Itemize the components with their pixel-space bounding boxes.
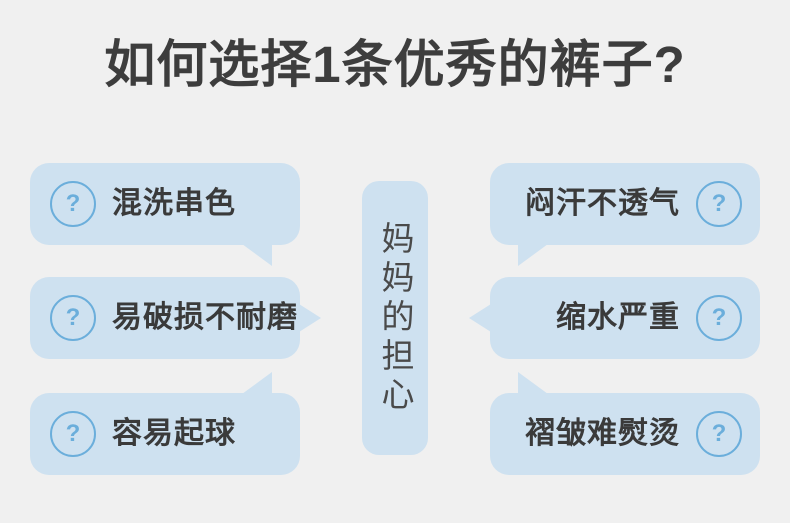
concern-card-right-1[interactable]: 闷汗不透气 ? — [490, 163, 760, 245]
svg-text:?: ? — [66, 304, 81, 331]
concern-card-label: 缩水严重 — [556, 301, 680, 335]
center-card-label: 妈妈的担心 — [362, 221, 428, 416]
svg-text:?: ? — [712, 304, 727, 331]
concern-card-left-3[interactable]: ? 容易起球 — [30, 393, 300, 475]
question-mark-icon: ? — [50, 181, 96, 227]
concern-card-label: 易破损不耐磨 — [112, 301, 298, 335]
bubble-tail-icon — [242, 244, 272, 266]
svg-text:?: ? — [712, 420, 727, 447]
question-mark-icon: ? — [696, 295, 742, 341]
bubble-tail-icon — [299, 304, 321, 332]
center-card[interactable]: 妈妈的担心 — [362, 181, 428, 455]
question-mark-icon: ? — [696, 411, 742, 457]
concern-card-right-3[interactable]: 褶皱难熨烫 ? — [490, 393, 760, 475]
concern-card-left-2[interactable]: ? 易破损不耐磨 — [30, 277, 300, 359]
svg-text:?: ? — [66, 420, 81, 447]
question-mark-icon: ? — [696, 181, 742, 227]
concern-card-left-1[interactable]: ? 混洗串色 — [30, 163, 300, 245]
bubble-tail-icon — [518, 372, 548, 394]
infographic-canvas: 如何选择1条优秀的裤子? ? 混洗串色 ? 易破损不耐磨 ? 容易起球 妈妈的担… — [0, 0, 790, 523]
bubble-tail-icon — [242, 372, 272, 394]
bubble-tail-icon — [469, 304, 491, 332]
svg-text:?: ? — [66, 190, 81, 217]
page-title: 如何选择1条优秀的裤子? — [0, 34, 790, 96]
question-mark-icon: ? — [50, 411, 96, 457]
question-mark-icon: ? — [50, 295, 96, 341]
concern-card-right-2[interactable]: 缩水严重 ? — [490, 277, 760, 359]
concern-card-label: 容易起球 — [112, 417, 236, 451]
concern-card-label: 褶皱难熨烫 — [525, 417, 680, 451]
bubble-tail-icon — [518, 244, 548, 266]
concern-card-label: 闷汗不透气 — [525, 187, 680, 221]
concern-card-label: 混洗串色 — [112, 187, 236, 221]
svg-text:?: ? — [712, 190, 727, 217]
